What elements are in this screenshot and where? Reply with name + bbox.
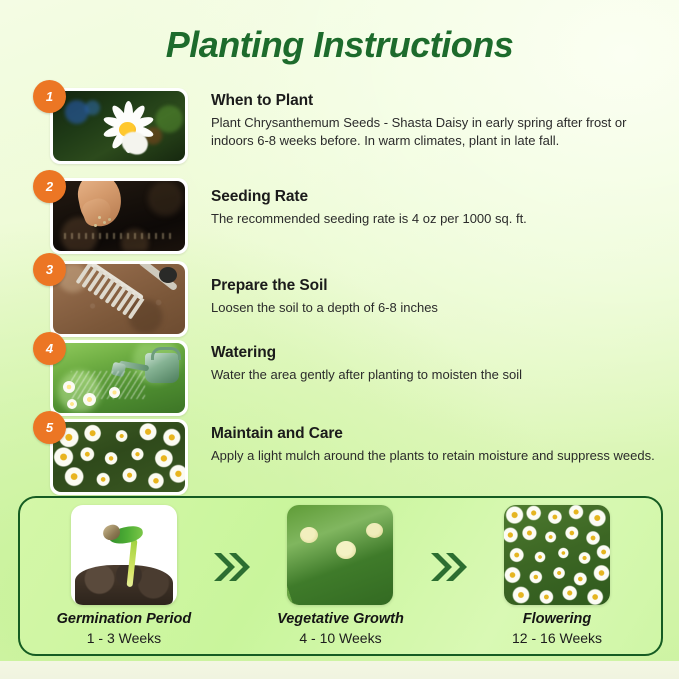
green-foliage-buds-photo <box>287 505 393 605</box>
double-chevron-right-icon <box>422 550 475 584</box>
step-description: Loosen the soil to a depth of 6-8 inches <box>211 299 656 317</box>
step-description: Plant Chrysanthemum Seeds - Shasta Daisy… <box>211 114 656 151</box>
step-item: 1 <box>0 88 679 168</box>
sprouting-seedling-photo <box>71 505 177 605</box>
step-item: 4 Wate <box>0 340 679 420</box>
step-text-4: Watering Water the area gently after pla… <box>211 344 656 384</box>
step-title: Prepare the Soil <box>211 277 656 295</box>
step-thumbnail-2: 2 <box>50 178 188 254</box>
growth-stage-flowering: Flowering 12 - 16 Weeks <box>475 505 639 647</box>
double-chevron-right-icon <box>206 550 259 584</box>
step-number-badge: 3 <box>33 253 66 286</box>
step-number-badge: 2 <box>33 170 66 203</box>
blooming-daisies-photo <box>504 505 610 605</box>
hand-sowing-seeds-photo <box>53 181 185 251</box>
step-thumbnail-4: 4 <box>50 340 188 416</box>
stage-label: Flowering <box>475 611 639 628</box>
step-item: 2 Seeding Rate The recommended seeding r… <box>0 178 679 258</box>
footer-strip <box>0 661 679 679</box>
step-text-1: When to Plant Plant Chrysanthemum Seeds … <box>211 92 656 151</box>
page-title: Planting Instructions <box>0 24 679 66</box>
watering-can-photo <box>53 343 185 413</box>
step-title: Watering <box>211 344 656 362</box>
step-thumbnail-3: 3 <box>50 261 188 337</box>
rake-on-soil-photo <box>53 264 185 334</box>
growth-timeline-row: Germination Period 1 - 3 Weeks <box>20 498 661 654</box>
step-text-3: Prepare the Soil Loosen the soil to a de… <box>211 277 656 317</box>
step-thumbnail-5: 5 <box>50 419 188 495</box>
step-number-badge: 1 <box>33 80 66 113</box>
step-text-5: Maintain and Care Apply a light mulch ar… <box>211 425 656 465</box>
step-number-badge: 5 <box>33 411 66 444</box>
stage-weeks: 1 - 3 Weeks <box>42 630 206 647</box>
growth-stage-germination: Germination Period 1 - 3 Weeks <box>42 505 206 647</box>
step-item: 3 Prepare the Soil Loosen the soil to a <box>0 261 679 341</box>
stage-label: Germination Period <box>42 611 206 628</box>
daisy-field-photo <box>53 422 185 492</box>
step-text-2: Seeding Rate The recommended seeding rat… <box>211 188 656 228</box>
step-description: The recommended seeding rate is 4 oz per… <box>211 210 656 228</box>
stage-label: Vegetative Growth <box>259 611 423 628</box>
step-title: When to Plant <box>211 92 656 110</box>
step-thumbnail-1: 1 <box>50 88 188 164</box>
step-title: Maintain and Care <box>211 425 656 443</box>
planting-instructions-infographic: Planting Instructions 1 <box>0 0 679 679</box>
step-description: Water the area gently after planting to … <box>211 366 656 384</box>
step-number-badge: 4 <box>33 332 66 365</box>
stage-weeks: 4 - 10 Weeks <box>259 630 423 647</box>
growth-stage-vegetative: Vegetative Growth 4 - 10 Weeks <box>259 505 423 647</box>
step-title: Seeding Rate <box>211 188 656 206</box>
growth-timeline-panel: Germination Period 1 - 3 Weeks <box>18 496 663 656</box>
step-description: Apply a light mulch around the plants to… <box>211 447 656 465</box>
white-daisy-flower-photo <box>53 91 185 161</box>
stage-weeks: 12 - 16 Weeks <box>475 630 639 647</box>
step-item: 5 Maintain and Care Apply a light mulch … <box>0 419 679 499</box>
